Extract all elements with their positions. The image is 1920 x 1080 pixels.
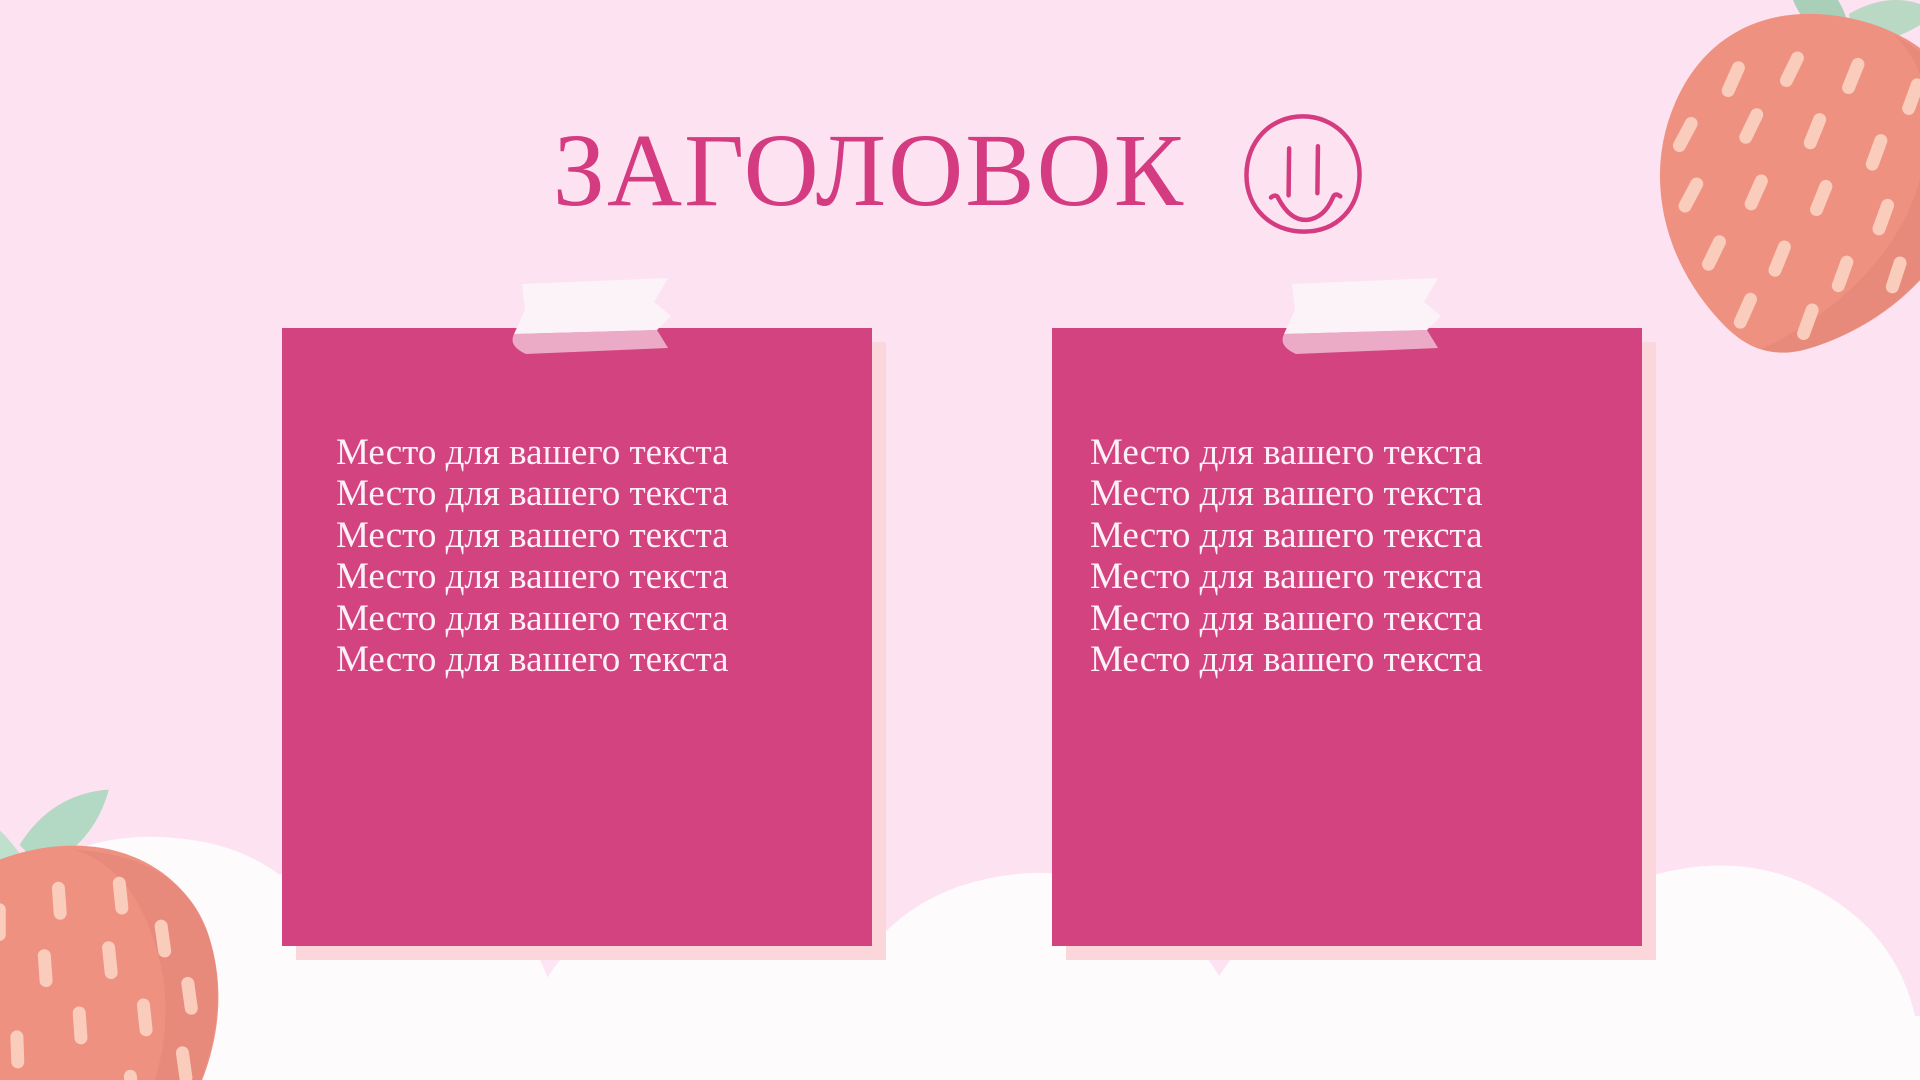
right-card-text: Место для вашего текста Место для вашего… [1090, 432, 1620, 681]
smiley-face-icon [1239, 110, 1367, 238]
slide-canvas: ЗАГОЛОВОК Место для вашего текста Место … [0, 0, 1920, 1080]
left-card-text: Место для вашего текста Место для вашего… [336, 432, 816, 681]
title-row: ЗАГОЛОВОК [0, 96, 1920, 246]
strawberry-icon-bottom-left [0, 744, 264, 1080]
page-title: ЗАГОЛОВОК [553, 119, 1185, 223]
